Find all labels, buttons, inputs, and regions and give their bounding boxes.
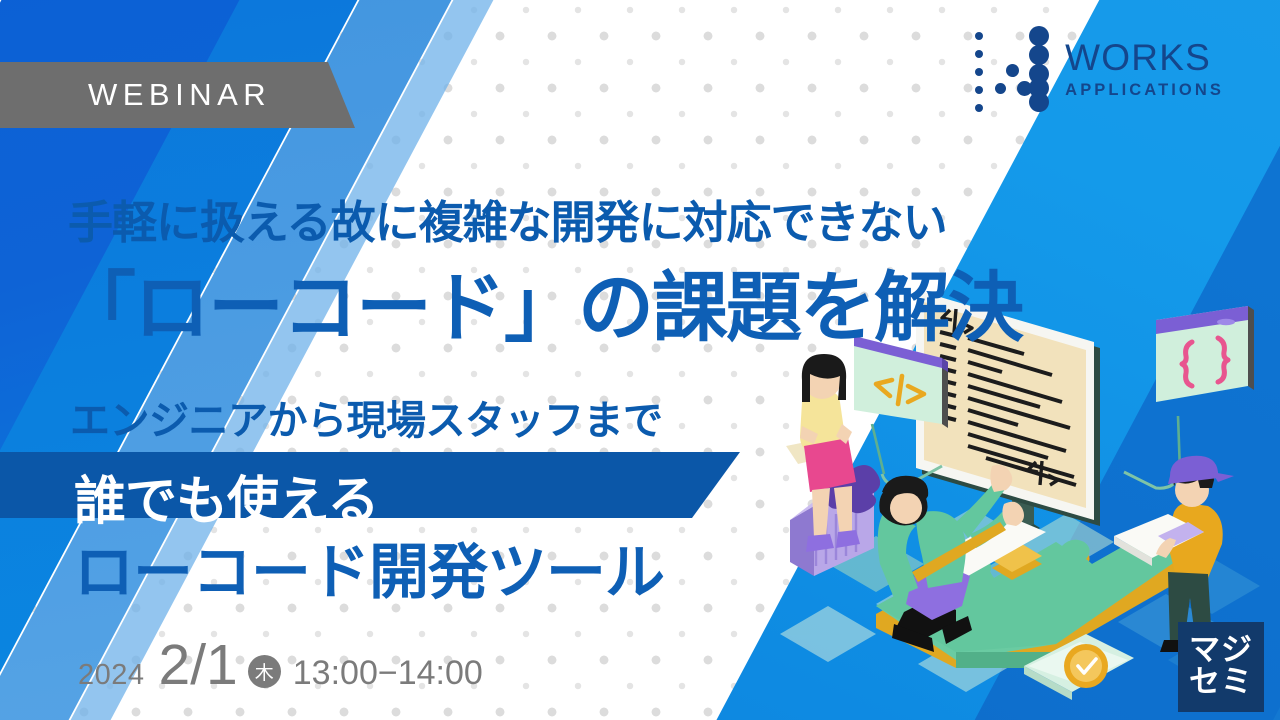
webinar-banner: WEBINAR WORKS APPLICATIONS 手軽に扱える故に複雑な開発… [0, 0, 1280, 720]
webinar-badge: WEBINAR [0, 62, 355, 128]
brand-subtitle: APPLICATIONS [1065, 82, 1224, 99]
headline-line-2: 「ローコード」の課題を解決 [60, 246, 1022, 356]
works-applications-logo: WORKS APPLICATIONS [973, 26, 1224, 112]
majisemi-line-2: セミ [1189, 667, 1253, 699]
event-time: 13:00−14:00 [293, 654, 483, 693]
headline-line-5: ローコード開発ツール [74, 524, 664, 611]
headline-line-1: 手軽に扱える故に複雑な開発に対応できない [68, 186, 947, 251]
majisemi-logo: マジ セミ [1178, 622, 1264, 712]
event-year: 2024 [78, 659, 145, 692]
event-datetime: 2024 2/1 木 13:00−14:00 [78, 632, 483, 698]
brand-name: WORKS [1065, 39, 1211, 76]
headline-line-4-highlight: 誰でも使える [74, 459, 378, 534]
headline-line-3: エンジニアから現場スタッフまで [70, 388, 663, 446]
event-date: 2/1 [159, 632, 238, 698]
event-day-of-week-badge: 木 [248, 655, 281, 688]
webinar-badge-label: WEBINAR [0, 77, 271, 113]
works-dot-matrix-icon [973, 26, 1049, 112]
majisemi-line-1: マジ [1189, 635, 1253, 667]
